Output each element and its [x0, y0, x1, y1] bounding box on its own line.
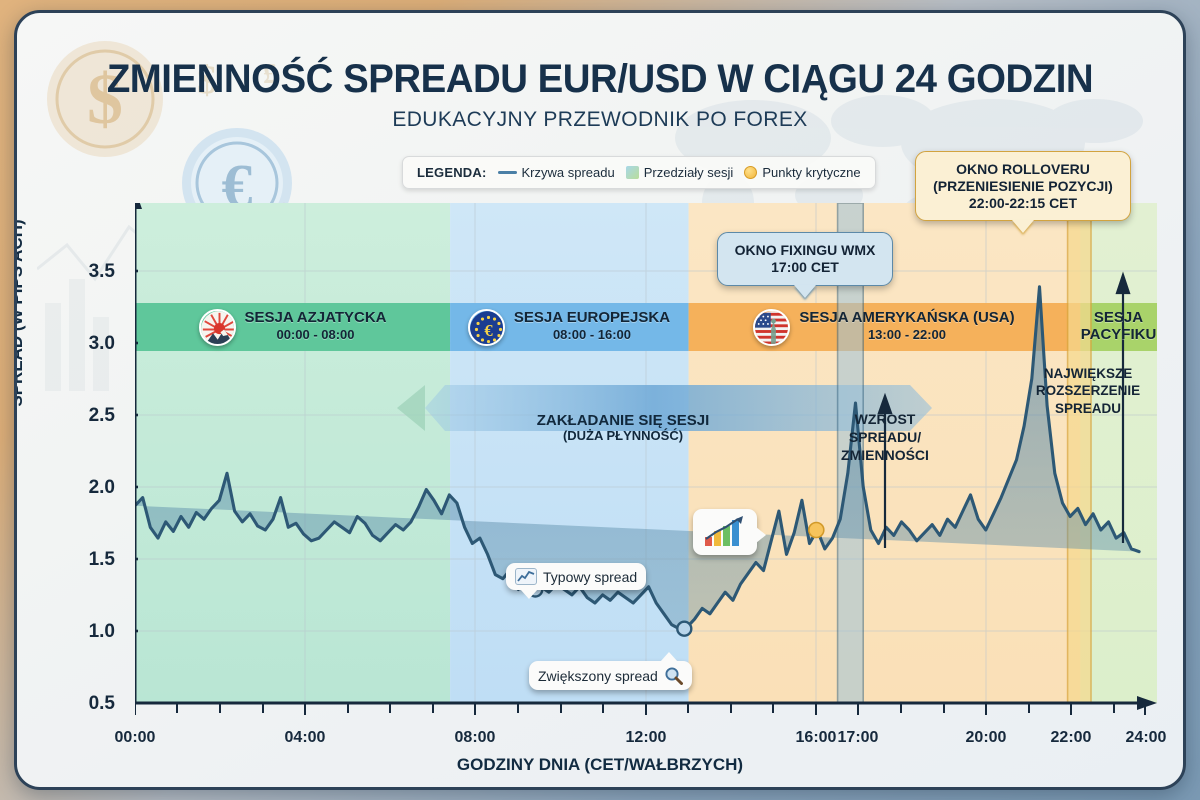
- legend-band-swatch-icon: [626, 166, 639, 179]
- session-asia[interactable]: SESJA AZJATYCKA 00:00 - 08:00: [135, 303, 450, 351]
- x-tick-17: 17:00: [823, 729, 893, 747]
- session-pacific[interactable]: SESJA PACYFIKU: [1080, 303, 1157, 351]
- session-usa[interactable]: SESJA AMERYKAŃSKA (USA) 13:00 - 22:00: [688, 303, 1080, 351]
- tooltip-increased-label: Zwiększony spread: [538, 668, 658, 684]
- callout-wmx-line-2: 17:00 CET: [726, 259, 884, 276]
- legend-item-critical: Punkty krytyczne: [744, 165, 860, 180]
- tooltip-growth-chart[interactable]: [693, 509, 757, 555]
- legend-item-critical-label: Punkty krytyczne: [762, 165, 860, 180]
- x-tick-04: 04:00: [270, 729, 340, 747]
- y-tick-2.5: 2.5: [65, 405, 115, 427]
- tooltip-typical-spread[interactable]: Typowy spread: [506, 563, 646, 590]
- data-point-increased[interactable]: [677, 622, 691, 636]
- x-tick-20: 20:00: [951, 729, 1021, 747]
- note-largest-widening: NAJWIĘKSZE ROZSZERZENIE SPREADU: [1029, 365, 1147, 417]
- session-pacific-name: SESJA PACYFIKU: [1081, 309, 1157, 343]
- x-tick-00: 00:00: [100, 729, 170, 747]
- session-europe-hours: 08:00 - 16:00: [553, 327, 631, 342]
- overlap-line-2: (DUŻA PŁYNNOŚĆ): [537, 429, 710, 444]
- critical-point-marker[interactable]: [809, 523, 824, 538]
- x-tick-12: 12:00: [611, 729, 681, 747]
- legend-line-swatch-icon: [498, 171, 517, 174]
- eu-flag-icon: €: [468, 309, 505, 346]
- x-tick-22: 22:00: [1036, 729, 1106, 747]
- session-usa-hours: 13:00 - 22:00: [868, 327, 946, 342]
- band-bg-pacific: [1080, 203, 1157, 703]
- legend-item-sessions-label: Przedziały sesji: [644, 165, 734, 180]
- bar-chart-growth-icon: [702, 515, 748, 549]
- band-bg-asia: [135, 203, 450, 703]
- magnifier-icon: [664, 666, 683, 685]
- y-tick-1.0: 1.0: [65, 621, 115, 643]
- band-bg-europe: [450, 203, 688, 703]
- x-tick-24: 24:00: [1111, 729, 1181, 747]
- session-asia-hours: 00:00 - 08:00: [276, 327, 354, 342]
- legend-label: LEGENDA:: [417, 165, 487, 180]
- svg-text:€: €: [484, 320, 493, 339]
- infographic-card: $ € $ £ ZMIENNOŚĆ SPREADU EUR/USD W CIĄG…: [14, 10, 1186, 790]
- note-najw-line-1: NAJWIĘKSZE: [1029, 365, 1147, 382]
- callout-rollover-line-1: OKNO ROLLOVERU: [924, 161, 1122, 178]
- note-wzrost-line-3: ZMIENNOŚCI: [829, 447, 941, 465]
- x-tick-08: 08:00: [440, 729, 510, 747]
- note-najw-line-3: SPREADU: [1029, 400, 1147, 417]
- x-axis-title-text: GODZINY DNIA (CET/WAŁBRZYCH): [457, 755, 743, 774]
- session-europe-text: SESJA EUROPEJSKA 08:00 - 16:00: [514, 310, 670, 344]
- chart-legend: LEGENDA: Krzywa spreadu Przedziały sesji…: [402, 156, 876, 189]
- note-spread-increase: WZROST SPREADU/ ZMIENNOŚCI: [829, 411, 941, 465]
- usa-flag-icon: [753, 309, 790, 346]
- tooltip-typical-label: Typowy spread: [543, 569, 637, 585]
- session-asia-text: SESJA AZJATYCKA 00:00 - 08:00: [245, 310, 387, 344]
- y-tick-0.5: 0.5: [65, 693, 115, 715]
- line-chart-icon: [515, 568, 537, 585]
- session-asia-name: SESJA AZJATYCKA: [245, 309, 387, 326]
- callout-rollover-line-3: 22:00-22:15 CET: [924, 195, 1122, 212]
- x-axis-title: GODZINY DNIA (CET/WAŁBRZYCH): [17, 755, 1183, 775]
- callout-rollover[interactable]: OKNO ROLLOVERU (PRZENIESIENIE POZYCJI) 2…: [915, 151, 1131, 221]
- session-usa-name: SESJA AMERYKAŃSKA (USA): [799, 309, 1014, 326]
- y-tick-3.0: 3.0: [65, 333, 115, 355]
- chart-canvas: [135, 203, 1157, 721]
- japan-flag-icon: [199, 309, 236, 346]
- legend-item-sessions: Przedziały sesji: [626, 165, 734, 180]
- spread-chart: [135, 203, 1157, 721]
- y-axis-title: SPREAD (W PIPS'ACH): [14, 219, 27, 406]
- y-tick-2.0: 2.0: [65, 477, 115, 499]
- session-europe-name: SESJA EUROPEJSKA: [514, 309, 670, 326]
- y-tick-1.5: 1.5: [65, 549, 115, 571]
- legend-dot-swatch-icon: [744, 166, 757, 179]
- session-overlap-band: ZAKŁADANIE SIĘ SESJI (DUŻA PŁYNNOŚĆ): [437, 405, 809, 451]
- note-wzrost-line-1: WZROST: [829, 411, 941, 429]
- callout-wmx-fixing[interactable]: OKNO FIXINGU WMX 17:00 CET: [717, 232, 893, 286]
- note-wzrost-line-2: SPREADU/: [829, 429, 941, 447]
- y-tick-3.5: 3.5: [65, 261, 115, 283]
- session-pacific-text: SESJA PACYFIKU: [1080, 310, 1157, 344]
- legend-item-curve: Krzywa spreadu: [498, 165, 615, 180]
- rollover-window-highlight: [1068, 203, 1091, 703]
- page-title: ZMIENNOŚĆ SPREADU EUR/USD W CIĄGU 24 GOD…: [40, 57, 1159, 102]
- overlap-line-1: ZAKŁADANIE SIĘ SESJI: [537, 412, 710, 429]
- session-usa-text: SESJA AMERYKAŃSKA (USA) 13:00 - 22:00: [799, 310, 1014, 344]
- page-subtitle: EDUKACYJNY PRZEWODNIK PO FOREX: [17, 108, 1183, 132]
- session-europe[interactable]: € SESJA EUROPEJSKA 08:00 - 16:00: [450, 303, 688, 351]
- tooltip-increased-spread[interactable]: Zwiększony spread: [529, 661, 692, 690]
- callout-rollover-line-2: (PRZENIESIENIE POZYCJI): [924, 178, 1122, 195]
- callout-wmx-line-1: OKNO FIXINGU WMX: [726, 242, 884, 259]
- note-najw-line-2: ROZSZERZENIE: [1029, 382, 1147, 399]
- legend-item-curve-label: Krzywa spreadu: [522, 165, 615, 180]
